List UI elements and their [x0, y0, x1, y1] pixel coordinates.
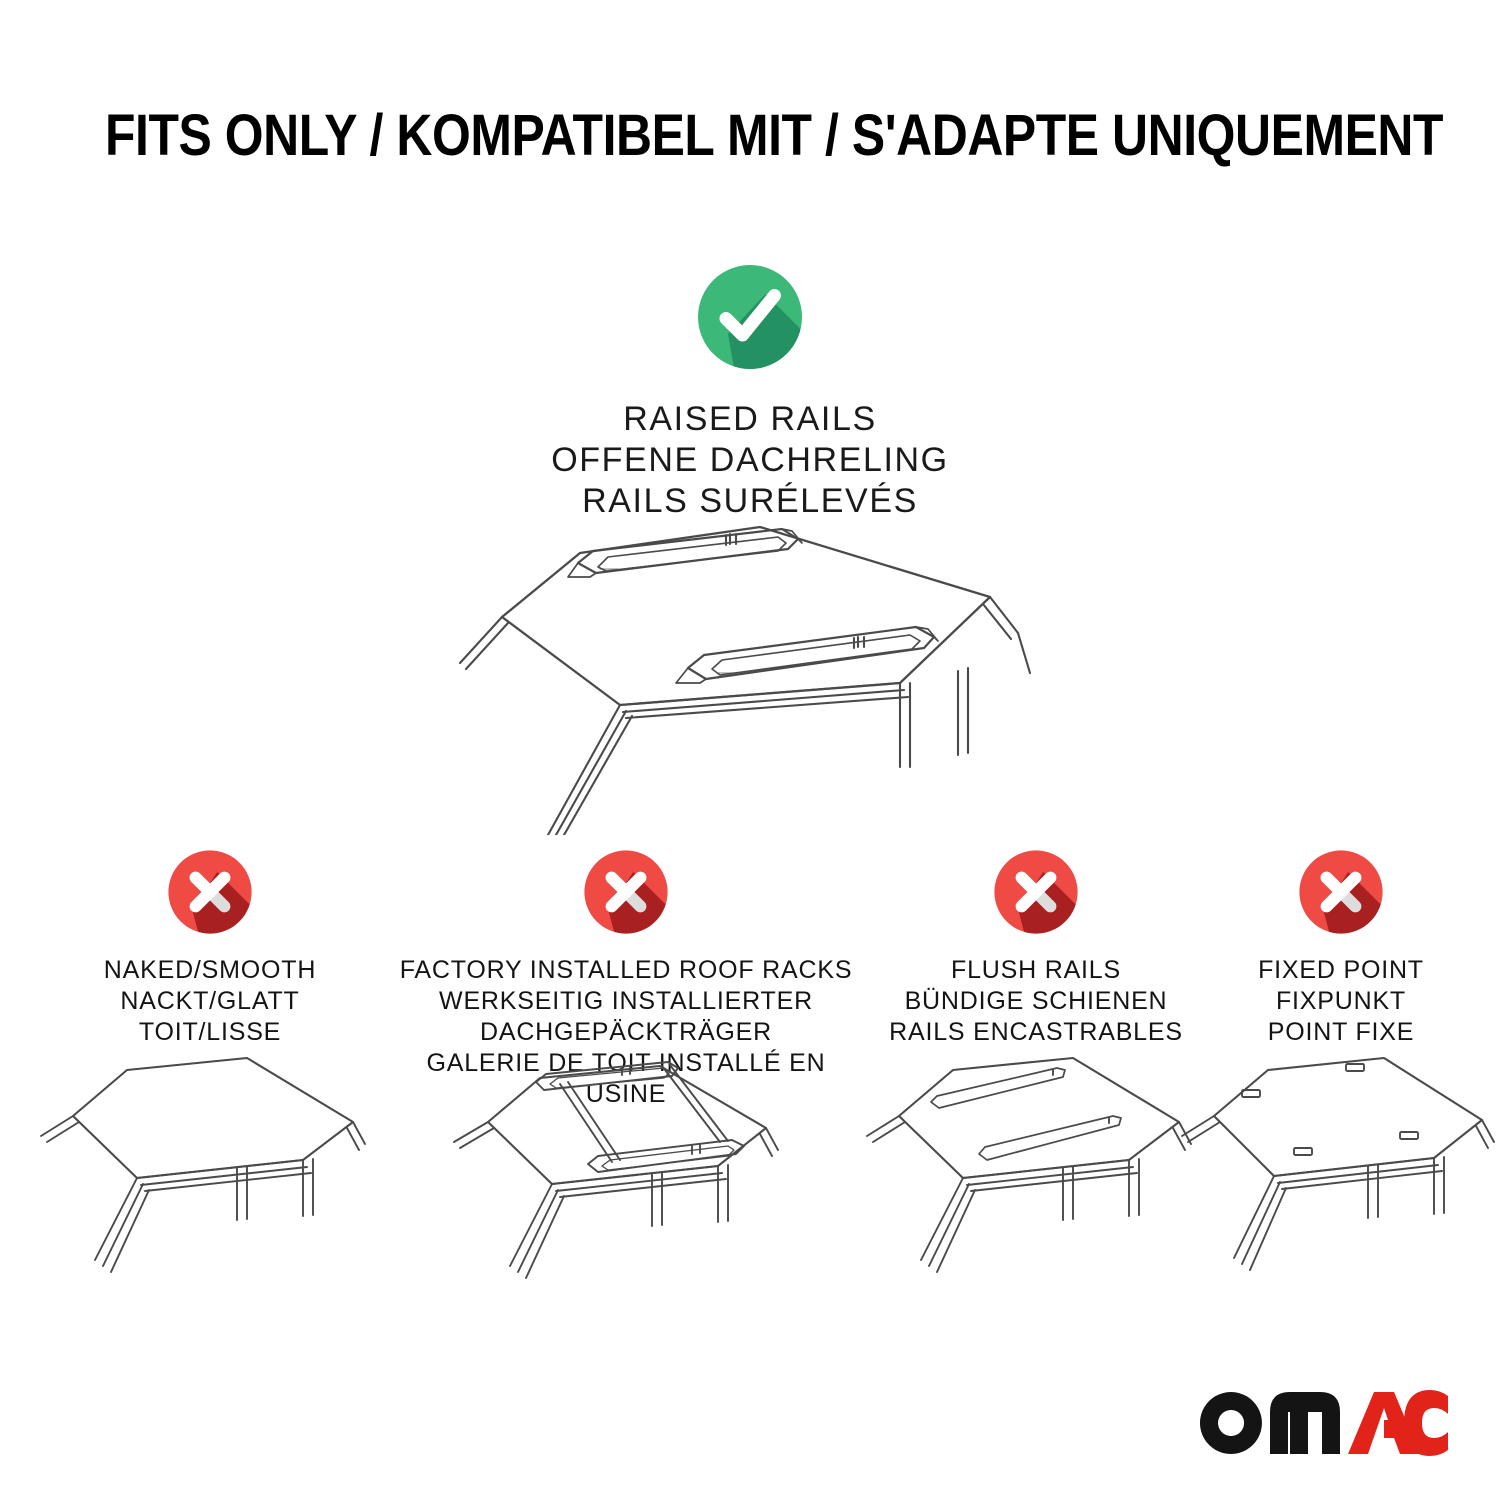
incompatible-item-naked-smooth: NAKED/SMOOTH NACKT/GLATT TOIT/LISSE — [30, 848, 390, 1048]
logo-letter-o — [1200, 1392, 1262, 1454]
car-roof-with-raised-rails-illustration — [430, 505, 1070, 835]
car-roof-flush-rails-illustration — [861, 1044, 1211, 1289]
logo-letter-c — [1404, 1390, 1448, 1456]
incompatible-item-fixed-point: FIXED POINT FIXPUNKT POINT FIXE — [1196, 848, 1486, 1048]
incompatible-item-flush-rails: FLUSH RAILS BÜNDIGE SCHIENEN RAILS ENCAS… — [858, 848, 1214, 1048]
cross-circle-icon — [858, 848, 1214, 941]
cross-circle-icon — [1196, 848, 1486, 941]
omac-logo — [1198, 1390, 1448, 1456]
cross-circle-icon — [30, 848, 390, 941]
page-title: FITS ONLY / KOMPATIBEL MIT / S'ADAPTE UN… — [105, 104, 1395, 168]
car-roof-fixed-point-illustration — [1176, 1044, 1500, 1289]
car-roof-factory-roof-rack-illustration — [436, 1038, 816, 1293]
incompatible-item-label: NAKED/SMOOTH NACKT/GLATT TOIT/LISSE — [30, 955, 390, 1048]
incompatible-item-factory-roof-racks: FACTORY INSTALLED ROOF RACKS WERKSEITIG … — [396, 848, 856, 1110]
logo-letter-m — [1270, 1392, 1340, 1454]
incompatible-item-label: FIXED POINT FIXPUNKT POINT FIXE — [1196, 955, 1486, 1048]
check-circle-icon — [450, 262, 1050, 377]
compatible-roof-type: RAISED RAILS OFFENE DACHRELING RAILS SUR… — [450, 262, 1050, 522]
incompatible-item-label: FLUSH RAILS BÜNDIGE SCHIENEN RAILS ENCAS… — [858, 955, 1214, 1048]
cross-circle-icon — [396, 848, 856, 941]
car-roof-naked-smooth-illustration — [35, 1044, 385, 1289]
compatible-roof-type-label: RAISED RAILS OFFENE DACHRELING RAILS SUR… — [450, 399, 1050, 522]
